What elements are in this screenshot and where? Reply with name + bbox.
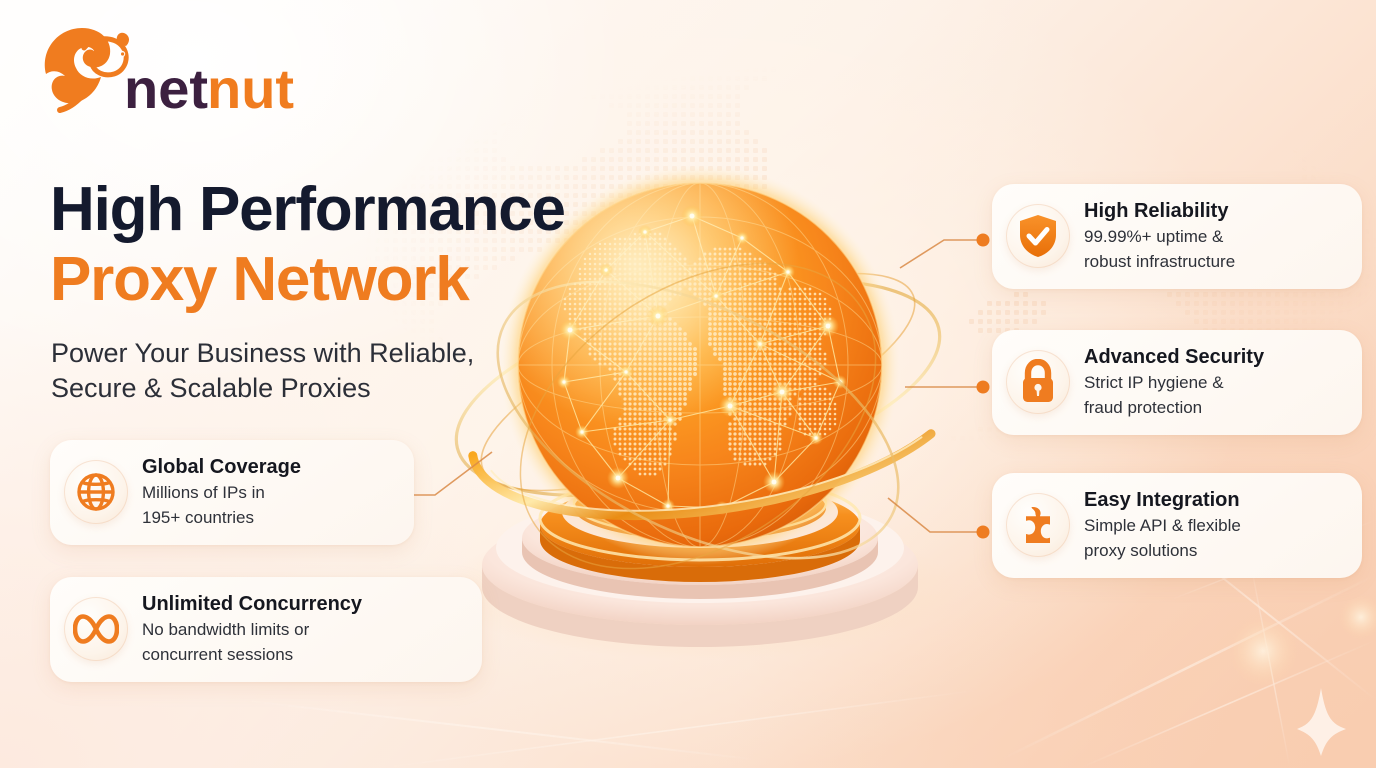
card-desc-line1: 99.99%+ uptime &: [1084, 226, 1235, 248]
headline-line-1: High Performance: [50, 178, 670, 241]
infinity-icon: [73, 612, 119, 646]
puzzle-piece-icon: [1016, 503, 1060, 547]
card-title: Advanced Security: [1084, 346, 1264, 369]
shield-check-icon-badge: [1006, 204, 1070, 268]
sparkle-star: [1297, 688, 1346, 756]
squirrel-icon: [45, 28, 129, 110]
card-text: Advanced Security Strict IP hygiene & fr…: [1084, 346, 1264, 419]
lock-icon: [1018, 359, 1058, 405]
card-desc-line1: Strict IP hygiene &: [1084, 372, 1264, 394]
headline-line-2: Proxy Network: [50, 245, 670, 314]
feature-card-easy-integration[interactable]: Easy Integration Simple API & flexible p…: [992, 473, 1362, 578]
connector-dot-reliability: [977, 234, 990, 247]
card-title: Unlimited Concurrency: [142, 593, 362, 616]
connector-dot-security: [977, 381, 990, 394]
card-text: Unlimited Concurrency No bandwidth limit…: [142, 593, 362, 666]
card-desc-line2: 195+ countries: [142, 507, 301, 529]
card-text: High Reliability 99.99%+ uptime & robust…: [1084, 200, 1235, 273]
card-title: High Reliability: [1084, 200, 1235, 223]
card-desc-line2: proxy solutions: [1084, 540, 1241, 562]
hero-subtitle: Power Your Business with Reliable, Secur…: [51, 336, 551, 405]
logo-text-net: net: [124, 57, 208, 118]
card-desc-line2: robust infrastructure: [1084, 251, 1235, 273]
headline-block: High Performance Proxy Network: [50, 178, 670, 315]
globe-icon-badge: [64, 460, 128, 524]
card-text: Global Coverage Millions of IPs in 195+ …: [142, 456, 301, 529]
feature-card-unlimited-concurrency[interactable]: Unlimited Concurrency No bandwidth limit…: [50, 577, 482, 682]
globe-icon: [74, 470, 118, 514]
shield-check-icon: [1017, 213, 1059, 259]
card-desc-line1: No bandwidth limits or: [142, 619, 362, 641]
puzzle-piece-icon-badge: [1006, 493, 1070, 557]
logo-text-nut: nut: [207, 57, 294, 118]
card-desc-line2: concurrent sessions: [142, 644, 362, 666]
netnut-logo[interactable]: net nut: [38, 22, 298, 118]
card-desc-line1: Simple API & flexible: [1084, 515, 1241, 537]
card-desc-line2: fraud protection: [1084, 397, 1264, 419]
card-desc-line1: Millions of IPs in: [142, 482, 301, 504]
card-text: Easy Integration Simple API & flexible p…: [1084, 489, 1241, 562]
card-title: Global Coverage: [142, 456, 301, 479]
card-title: Easy Integration: [1084, 489, 1241, 512]
connector-dot-integration: [977, 526, 990, 539]
feature-card-global-coverage[interactable]: Global Coverage Millions of IPs in 195+ …: [50, 440, 414, 545]
infinity-icon-badge: [64, 597, 128, 661]
hero-banner: net nut High Performance Proxy Network P…: [0, 0, 1376, 768]
lock-icon-badge: [1006, 350, 1070, 414]
feature-card-high-reliability[interactable]: High Reliability 99.99%+ uptime & robust…: [992, 184, 1362, 289]
feature-card-advanced-security[interactable]: Advanced Security Strict IP hygiene & fr…: [992, 330, 1362, 435]
